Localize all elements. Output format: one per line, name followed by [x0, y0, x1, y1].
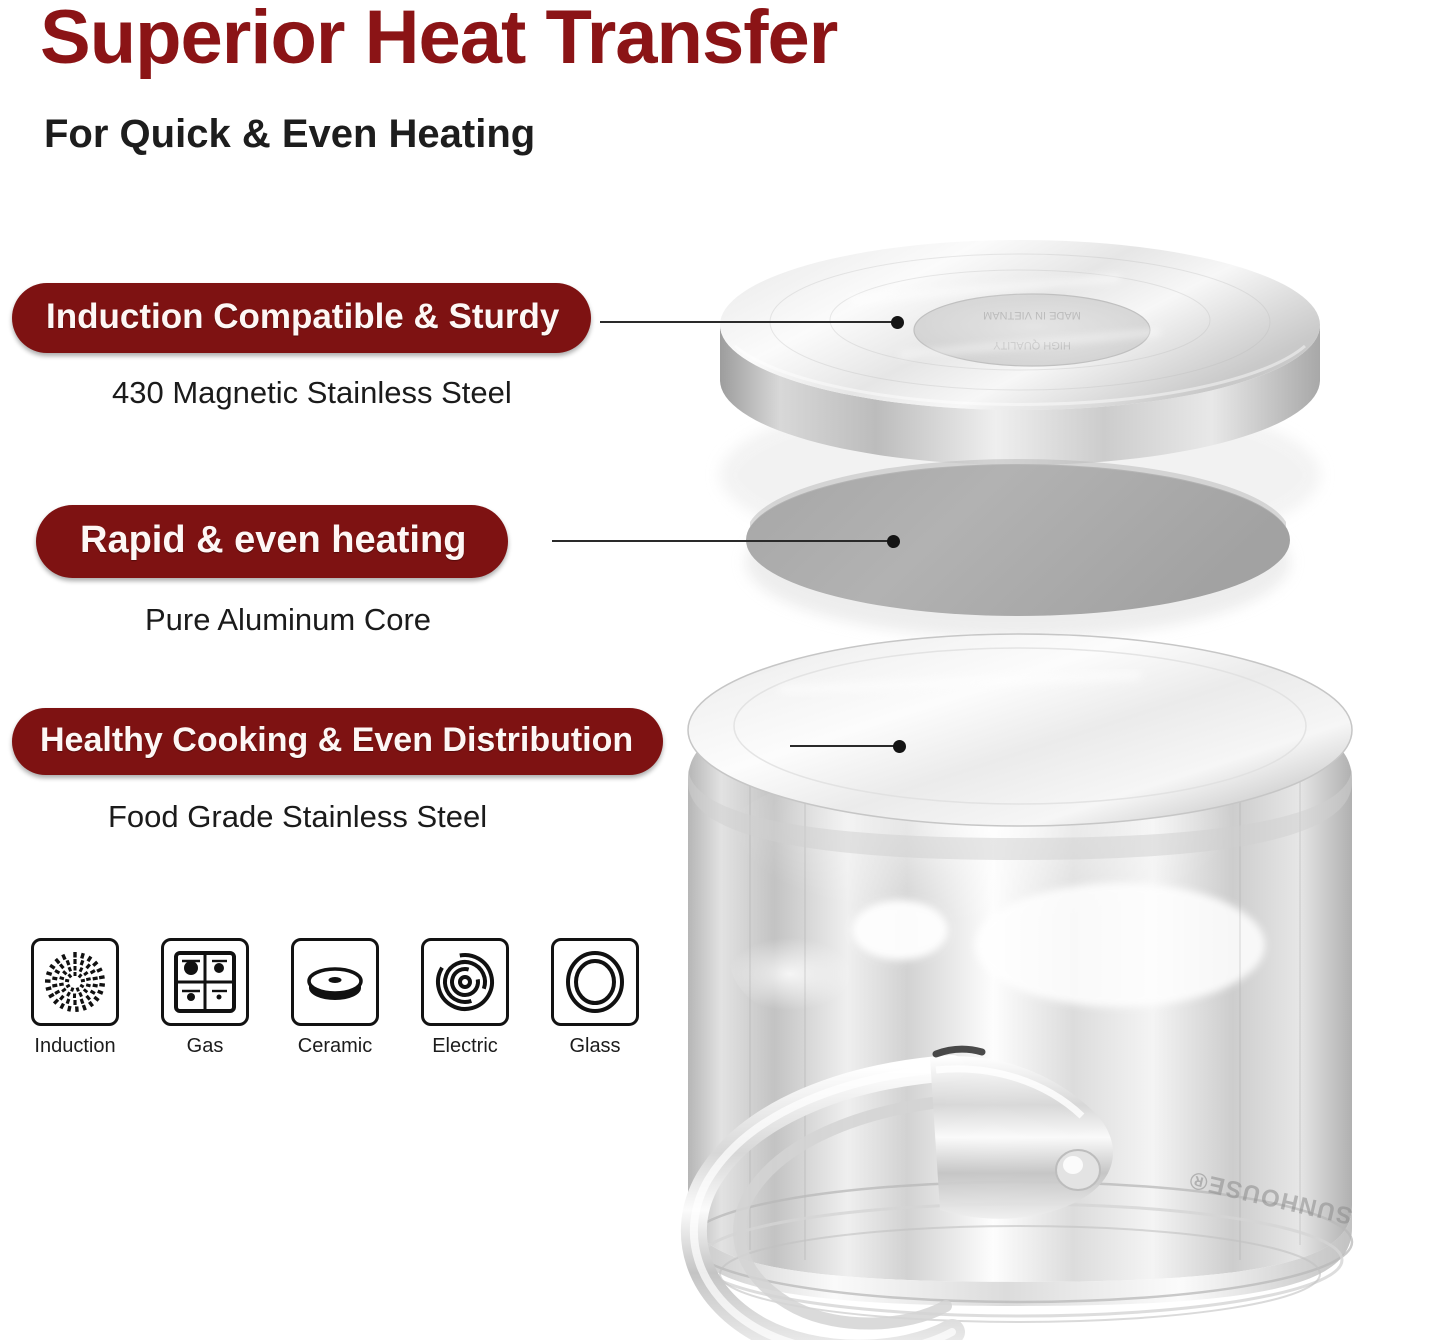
leader-dot-icon	[891, 316, 904, 329]
feature-block-rapid-heating: Rapid & even heating Pure Aluminum Core	[0, 505, 508, 638]
leader-dot-icon	[893, 740, 906, 753]
product-exploded-view: HIGH QUALITY MADE IN VIETNAM	[600, 170, 1445, 1340]
cooktop-item-ceramic: Ceramic	[291, 938, 379, 1058]
page-title: Superior Heat Transfer	[40, 0, 837, 78]
cooktop-label: Ceramic	[298, 1035, 372, 1058]
aluminum-core-disc	[746, 459, 1290, 638]
cooktop-item-induction: Induction	[31, 938, 119, 1058]
feature-block-induction: Induction Compatible & Sturdy 430 Magnet…	[0, 283, 591, 411]
gas-burner-icon	[161, 938, 249, 1026]
feature-caption-induction: 430 Magnetic Stainless Steel	[112, 375, 591, 411]
cooktop-item-gas: Gas	[161, 938, 249, 1058]
feature-badge-healthy-cooking: Healthy Cooking & Even Distribution	[12, 708, 663, 775]
svg-text:MADE IN VIETNAM: MADE IN VIETNAM	[983, 309, 1081, 321]
cooktop-label: Electric	[432, 1035, 498, 1058]
leader-dot-icon	[887, 535, 900, 548]
pot-body: SUNHOUSE®	[688, 634, 1355, 1322]
feature-badge-rapid-heating: Rapid & even heating	[36, 505, 508, 578]
leader-line-rapid-heating	[552, 540, 894, 542]
cooktop-item-electric: Electric	[421, 938, 509, 1058]
feature-caption-healthy-cooking: Food Grade Stainless Steel	[108, 799, 663, 835]
cooktop-label: Induction	[34, 1035, 115, 1058]
page-subtitle: For Quick & Even Heating	[44, 112, 535, 156]
feature-caption-rapid-heating: Pure Aluminum Core	[145, 602, 508, 638]
cooktop-compatibility-row: Induction Gas	[31, 938, 639, 1058]
electric-coil-icon	[421, 938, 509, 1026]
leader-line-induction	[600, 321, 898, 323]
feature-block-healthy-cooking: Healthy Cooking & Even Distribution Food…	[0, 708, 663, 835]
cooktop-label: Gas	[187, 1035, 224, 1058]
leader-line-healthy-cooking	[790, 745, 900, 747]
ceramic-plate-icon	[291, 938, 379, 1026]
induction-coil-icon	[31, 938, 119, 1026]
feature-badge-induction: Induction Compatible & Sturdy	[12, 283, 591, 353]
